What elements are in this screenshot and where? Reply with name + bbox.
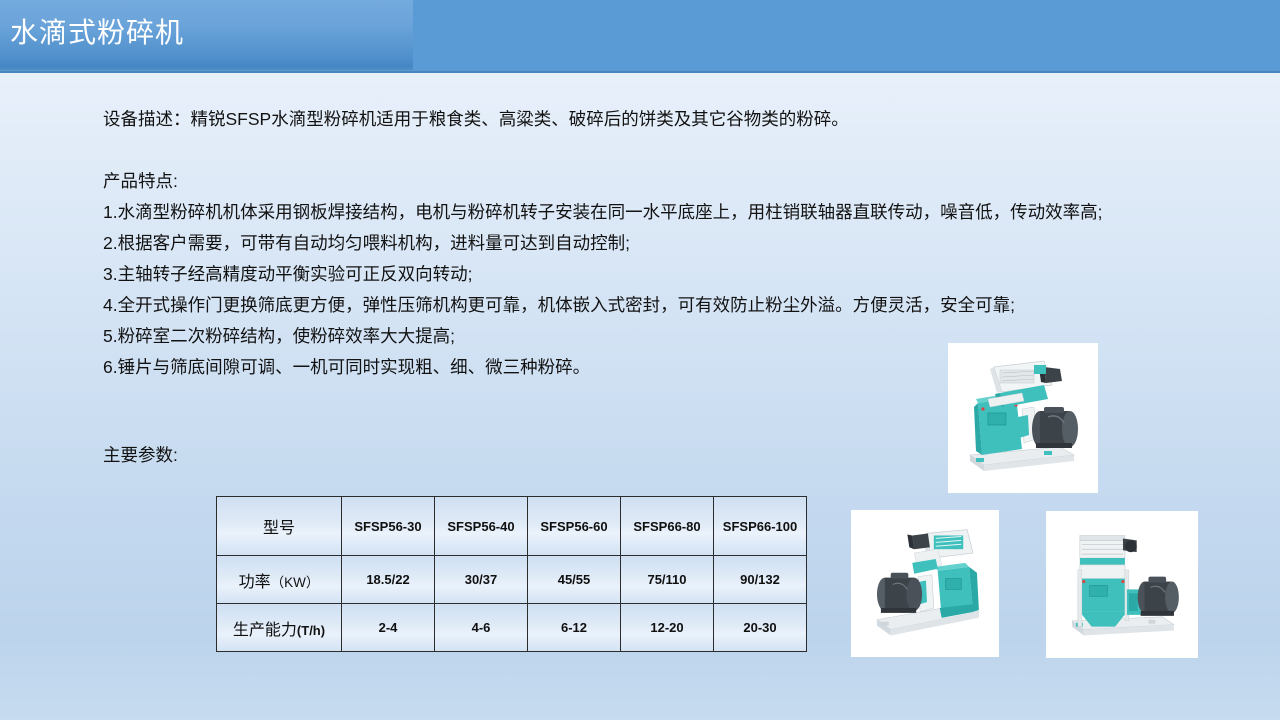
capacity-label-main: 生产能力 [233, 622, 297, 639]
table-row-label-power: 功率（KW） [217, 556, 342, 604]
table-header-cell: SFSP56-40 [435, 497, 528, 556]
text-spacer [103, 135, 1193, 166]
slide-canvas: 水滴式粉碎机 设备描述：精锐SFSP水滴型粉碎机适用于粮食类、高粱类、破碎后的饼… [0, 0, 1280, 720]
spec-table: 型号 SFSP56-30 SFSP56-40 SFSP56-60 SFSP66-… [216, 496, 807, 652]
table-cell: 30/37 [435, 556, 528, 604]
feature-item-4: 4.全开式操作门更换筛底更方便，弹性压筛机构更可靠，机体嵌入式密封，可有效防止粉… [103, 290, 1193, 321]
table-cell: 2-4 [342, 604, 435, 652]
equipment-description: 设备描述：精锐SFSP水滴型粉碎机适用于粮食类、高粱类、破碎后的饼类及其它谷物类… [103, 104, 1193, 135]
feature-item-3: 3.主轴转子经高精度动平衡实验可正反双向转动; [103, 259, 1193, 290]
hammer-mill-photo-right [1046, 511, 1198, 658]
table-cell: 6-12 [528, 604, 621, 652]
body-text-block: 设备描述：精锐SFSP水滴型粉碎机适用于粮食类、高粱类、破碎后的饼类及其它谷物类… [103, 104, 1193, 383]
table-header-row: 型号 SFSP56-30 SFSP56-40 SFSP56-60 SFSP66-… [217, 497, 807, 556]
table-cell: 90/132 [714, 556, 807, 604]
table-row-label-capacity: 生产能力(T/h) [217, 604, 342, 652]
feature-item-1: 1.水滴型粉碎机机体采用钢板焊接结构，电机与粉碎机转子安装在同一水平底座上，用柱… [103, 197, 1193, 228]
hammer-mill-photo-top [948, 343, 1098, 493]
feature-item-2: 2.根据客户需要，可带有自动均匀喂料机构，进料量可达到自动控制; [103, 228, 1193, 259]
table-row: 功率（KW） 18.5/22 30/37 45/55 75/110 90/132 [217, 556, 807, 604]
table-row: 生产能力(T/h) 2-4 4-6 6-12 12-20 20-30 [217, 604, 807, 652]
params-heading: 主要参数: [103, 442, 178, 468]
power-label-main: 功率 [239, 574, 271, 591]
table-header-model: 型号 [217, 497, 342, 556]
table-cell: 20-30 [714, 604, 807, 652]
table-header-cell: SFSP56-30 [342, 497, 435, 556]
table-cell: 12-20 [621, 604, 714, 652]
page-title: 水滴式粉碎机 [10, 16, 184, 50]
capacity-label-unit: (T/h) [297, 623, 325, 638]
table-cell: 45/55 [528, 556, 621, 604]
table-cell: 75/110 [621, 556, 714, 604]
power-label-unit: （KW） [271, 575, 320, 590]
table-cell: 4-6 [435, 604, 528, 652]
features-heading: 产品特点: [103, 166, 1193, 197]
table-header-cell: SFSP66-100 [714, 497, 807, 556]
table-header-cell: SFSP56-60 [528, 497, 621, 556]
table-cell: 18.5/22 [342, 556, 435, 604]
table-header-cell: SFSP66-80 [621, 497, 714, 556]
hammer-mill-photo-left [851, 510, 999, 657]
